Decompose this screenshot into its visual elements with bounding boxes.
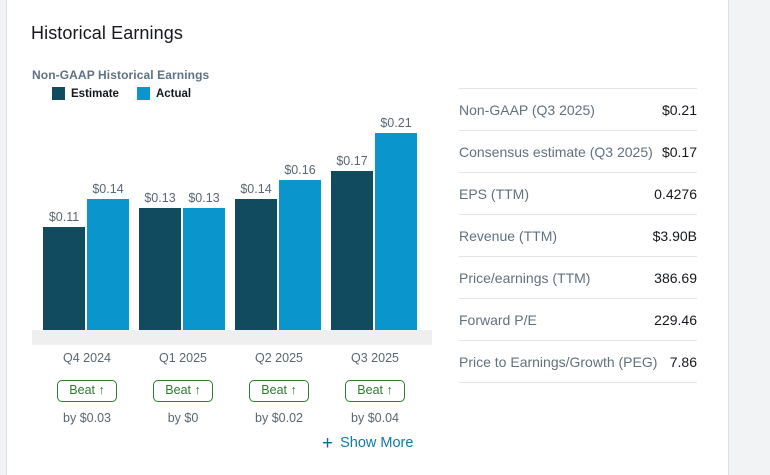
axis-group-q1-2025: Q1 2025Beat ↑by $0: [135, 350, 231, 426]
legend-swatch-actual: [137, 87, 150, 100]
beat-amount-label: by $0.03: [39, 411, 135, 426]
bar-estimate-q3-2025[interactable]: [331, 171, 373, 330]
bar-value-label: $0.17: [325, 154, 379, 168]
stat-value: 7.86: [670, 352, 697, 372]
bar-estimate-q2-2025[interactable]: [235, 199, 277, 330]
stat-label: Consensus estimate (Q3 2025): [459, 142, 654, 162]
page-background: Historical Earnings Non-GAAP Historical …: [0, 0, 770, 475]
axis-group-q3-2025: Q3 2025Beat ↑by $0.04: [327, 350, 423, 426]
beat-badge-wrap: Beat ↑: [135, 366, 231, 402]
chart-plot-area: $0.11$0.14$0.13$0.13$0.14$0.16$0.17$0.21: [32, 110, 432, 330]
stat-label: Non-GAAP (Q3 2025): [459, 100, 654, 120]
table-row: Price/earnings (TTM)386.69: [459, 256, 697, 298]
table-row: Consensus estimate (Q3 2025)$0.17: [459, 130, 697, 172]
chart-subtitle: Non-GAAP Historical Earnings: [32, 68, 209, 82]
stat-value: $0.17: [662, 142, 697, 162]
legend-item-actual[interactable]: Actual: [137, 87, 191, 100]
beat-amount-label: by $0.02: [231, 411, 327, 426]
bar-value-label: $0.14: [81, 182, 135, 196]
bar-actual-q3-2025[interactable]: [375, 133, 417, 330]
beat-badge-wrap: Beat ↑: [231, 366, 327, 402]
table-row: EPS (TTM)0.4276: [459, 172, 697, 214]
chart-x-axis: Q4 2024Beat ↑by $0.03Q1 2025Beat ↑by $0Q…: [32, 350, 432, 435]
show-more-button[interactable]: + Show More: [322, 434, 413, 453]
stat-value: $3.90B: [653, 226, 697, 246]
table-row: Price to Earnings/Growth (PEG)7.86: [459, 340, 697, 383]
show-more-label: Show More: [340, 434, 413, 453]
status-badge[interactable]: Beat ↑: [345, 380, 404, 402]
beat-amount-label: by $0: [135, 411, 231, 426]
page-title: Historical Earnings: [31, 22, 183, 44]
stats-table: Non-GAAP (Q3 2025)$0.21Consensus estimat…: [459, 88, 697, 383]
bar-actual-q4-2024[interactable]: [87, 199, 129, 330]
plus-icon: +: [322, 434, 333, 453]
legend-item-estimate[interactable]: Estimate: [52, 87, 119, 100]
bar-actual-q1-2025[interactable]: [183, 208, 225, 330]
bar-value-label: $0.11: [37, 210, 91, 224]
stat-label: Revenue (TTM): [459, 226, 645, 246]
legend-swatch-estimate: [52, 87, 65, 100]
status-badge[interactable]: Beat ↑: [249, 380, 308, 402]
bar-actual-q2-2025[interactable]: [279, 180, 321, 330]
stat-label: Forward P/E: [459, 310, 646, 330]
axis-group-q4-2024: Q4 2024Beat ↑by $0.03: [39, 350, 135, 426]
legend-label-estimate: Estimate: [71, 88, 119, 100]
axis-tick-label: Q4 2024: [39, 350, 135, 366]
axis-group-q2-2025: Q2 2025Beat ↑by $0.02: [231, 350, 327, 426]
stat-value: 386.69: [654, 268, 697, 288]
status-badge[interactable]: Beat ↑: [57, 380, 116, 402]
stat-label: EPS (TTM): [459, 184, 646, 204]
beat-badge-wrap: Beat ↑: [327, 366, 423, 402]
beat-badge-wrap: Beat ↑: [39, 366, 135, 402]
bar-value-label: $0.13: [177, 191, 231, 205]
stat-value: 0.4276: [654, 184, 697, 204]
chart-legend: Estimate Actual: [52, 87, 191, 100]
beat-amount-label: by $0.04: [327, 411, 423, 426]
stat-value: $0.21: [662, 100, 697, 120]
table-row: Forward P/E229.46: [459, 298, 697, 340]
stat-label: Price to Earnings/Growth (PEG): [459, 352, 662, 372]
bar-estimate-q1-2025[interactable]: [139, 208, 181, 330]
bar-value-label: $0.16: [273, 163, 327, 177]
table-row: Revenue (TTM)$3.90B: [459, 214, 697, 256]
chart-baseline-band: [32, 330, 432, 345]
axis-tick-label: Q1 2025: [135, 350, 231, 366]
stat-label: Price/earnings (TTM): [459, 268, 646, 288]
bar-estimate-q4-2024[interactable]: [43, 227, 85, 330]
stat-value: 229.46: [654, 310, 697, 330]
table-row: Non-GAAP (Q3 2025)$0.21: [459, 88, 697, 130]
bar-value-label: $0.21: [369, 116, 423, 130]
axis-tick-label: Q2 2025: [231, 350, 327, 366]
bar-value-label: $0.14: [229, 182, 283, 196]
historical-earnings-card: Historical Earnings Non-GAAP Historical …: [6, 0, 729, 475]
legend-label-actual: Actual: [156, 88, 191, 100]
earnings-bar-chart: $0.11$0.14$0.13$0.13$0.14$0.16$0.17$0.21: [32, 110, 432, 345]
status-badge[interactable]: Beat ↑: [153, 380, 212, 402]
axis-tick-label: Q3 2025: [327, 350, 423, 366]
